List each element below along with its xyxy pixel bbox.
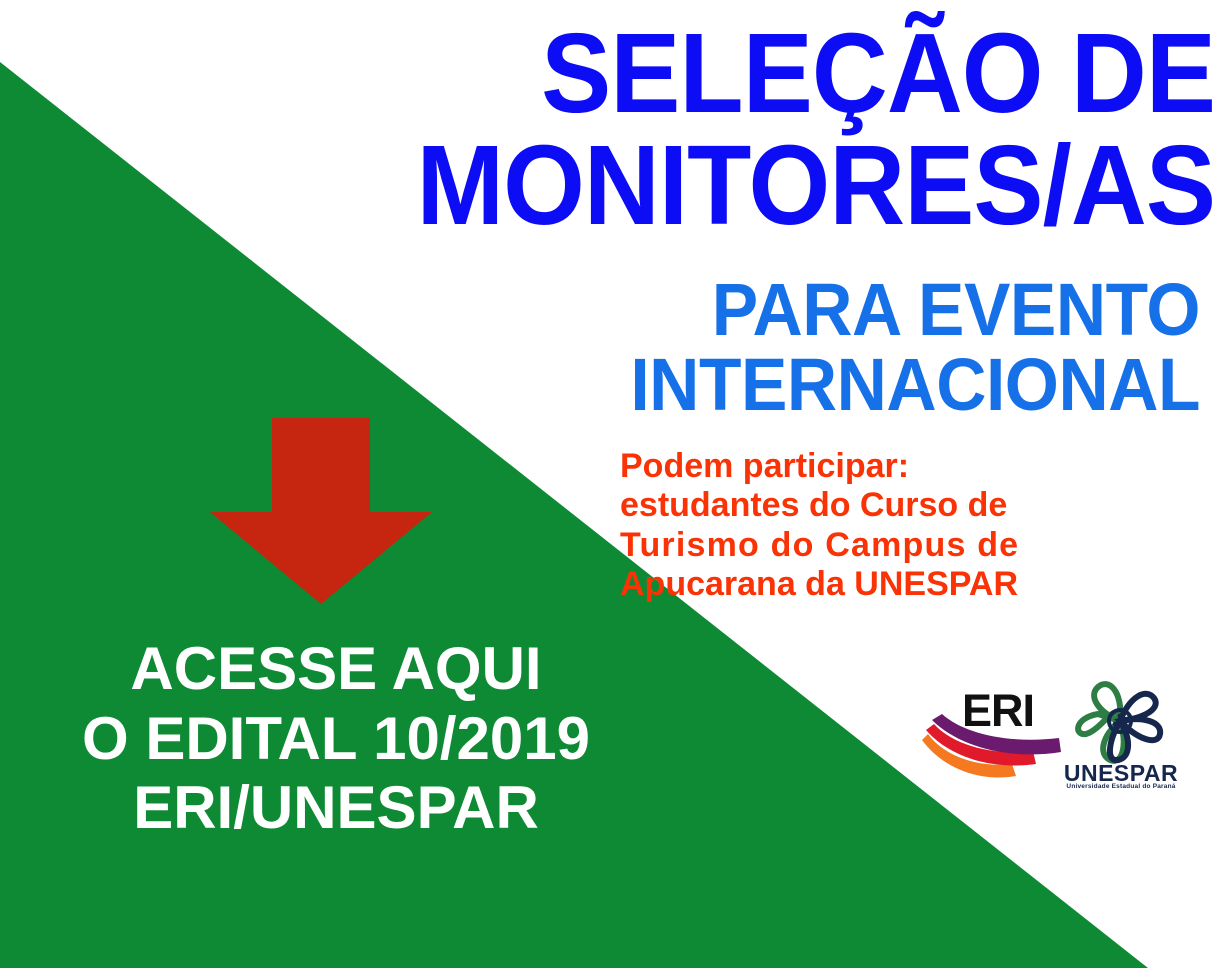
svg-text:ERI: ERI [962,685,1034,736]
unespar-flower-icon [1068,678,1172,764]
cta-line-3: ERI/UNESPAR [0,773,672,843]
cta-line-1: ACESSE AQUI [0,634,672,704]
unespar-logo: UNESPAR Universidade Estadual do Paraná [1062,678,1184,800]
eligibility-line-2: estudantes do Curso de [620,486,1200,525]
page-title: SELEÇÃO DE MONITORES/AS [0,18,1215,242]
eligibility-line-1: Podem participar: [620,447,1200,486]
eligibility-line-3: Turismo do Campus de [620,526,1200,565]
subtitle-line-1: PARA EVENTO [72,272,1200,347]
unespar-wordmark: UNESPAR [1062,762,1180,785]
call-to-action-text: ACESSE AQUI O EDITAL 10/2019 ERI/UNESPAR [0,634,672,843]
eri-swoosh-icon: ERI [920,678,1066,782]
eligibility-line-4: Apucarana da UNESPAR [620,565,1200,604]
subtitle-line-2: INTERNACIONAL [72,347,1200,422]
unespar-tagline: Universidade Estadual do Paraná [1062,784,1180,791]
arrow-down-icon [210,418,432,604]
title-line-1: SELEÇÃO DE [85,18,1215,130]
eligibility-note: Podem participar: estudantes do Curso de… [620,447,1200,605]
poster-canvas: SELEÇÃO DE MONITORES/AS PARA EVENTO INTE… [0,0,1224,968]
page-subtitle: PARA EVENTO INTERNACIONAL [0,272,1200,423]
logo-strip: ERI [920,678,1190,806]
title-line-2: MONITORES/AS [85,130,1215,242]
cta-line-2: O EDITAL 10/2019 [0,704,672,774]
